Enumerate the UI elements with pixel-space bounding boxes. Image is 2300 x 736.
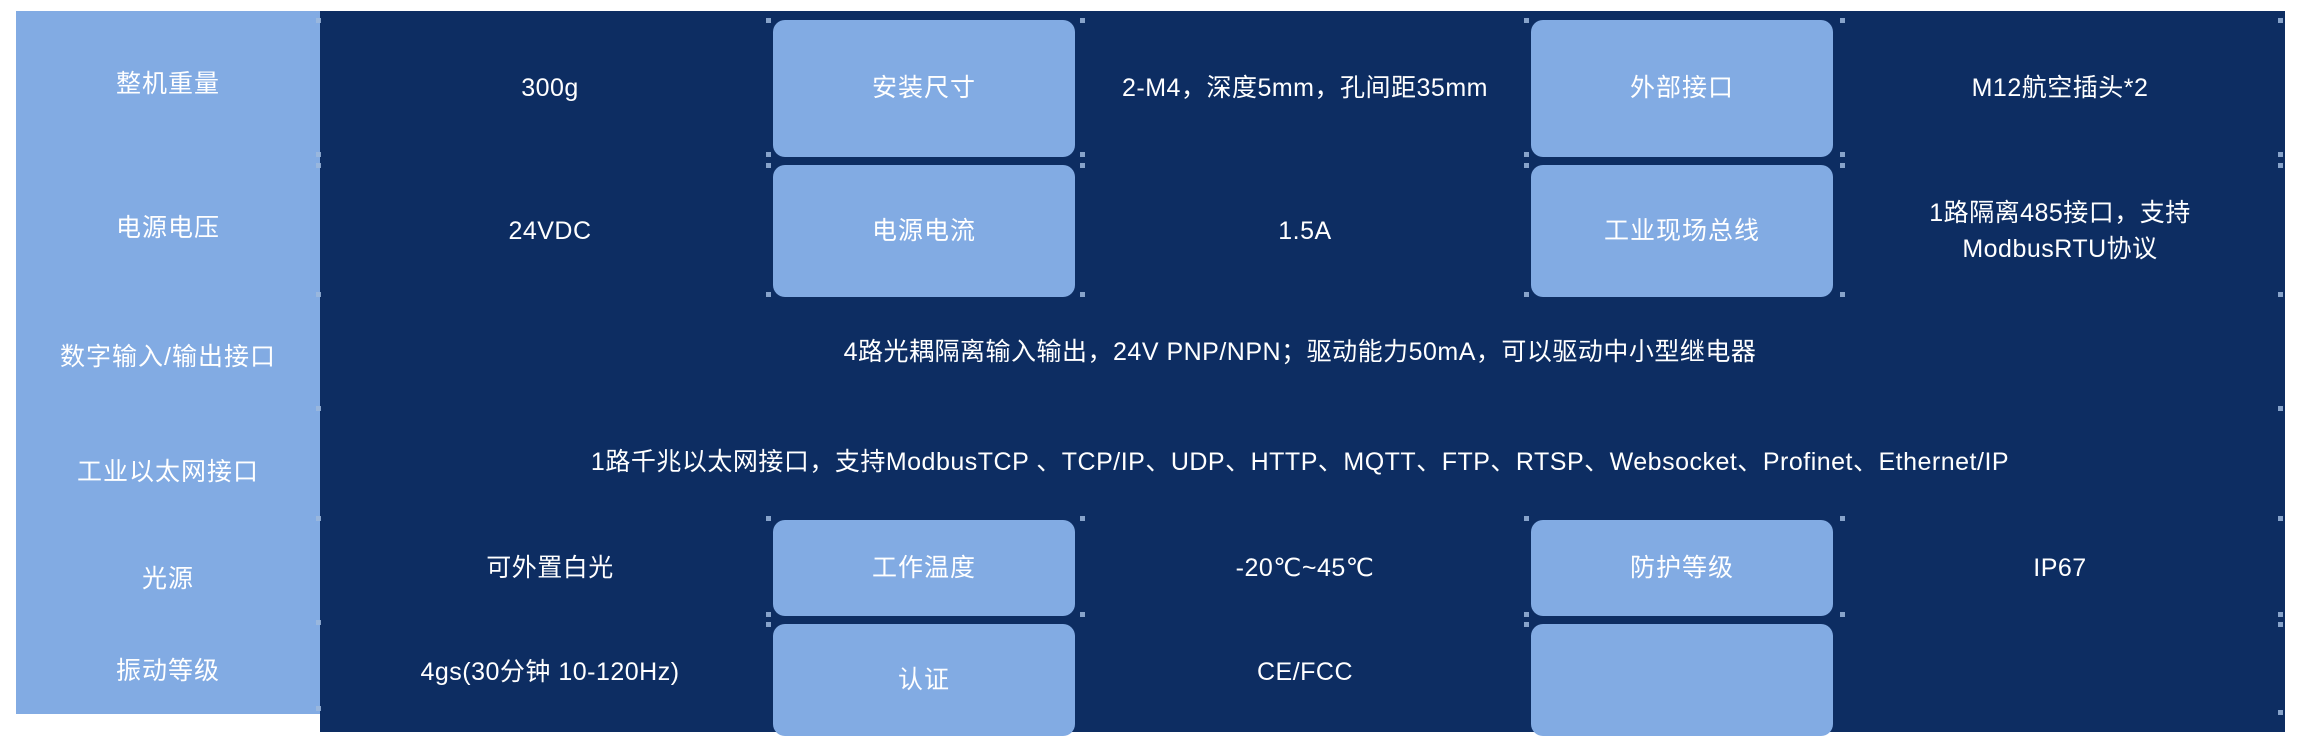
selection-handle-icon[interactable] [1840,152,1845,157]
selection-handle-icon[interactable] [2278,152,2283,157]
value-power-voltage: 24VDC [330,165,770,297]
selection-handle-icon[interactable] [766,292,771,297]
selection-handle-icon[interactable] [766,516,771,521]
selection-handle-icon[interactable] [2278,292,2283,297]
selection-handle-icon[interactable] [316,406,321,411]
selection-handle-icon[interactable] [1524,622,1529,627]
selection-handle-icon[interactable] [316,516,321,521]
selection-handle-icon[interactable] [1524,18,1529,23]
row-label-column: 整机重量 电源电压 数字输入/输出接口 工业以太网接口 光源 振动等级 [16,11,320,714]
selection-handle-icon[interactable] [766,152,771,157]
selection-handle-icon[interactable] [1524,516,1529,521]
value-certification: CE/FCC [1090,624,1520,720]
selection-handle-icon[interactable] [1080,18,1085,23]
value-light-source: 可外置白光 [330,520,770,616]
row-label-power-voltage: 电源电压 [16,157,320,299]
chip-certification[interactable]: 认证 [773,624,1075,736]
value-digital-io: 4路光耦隔离输入输出，24V PNP/NPN；驱动能力50mA，可以驱动中小型继… [330,300,2270,404]
row-label-industrial-ethernet: 工业以太网接口 [16,415,320,529]
value-protection-rating: IP67 [1850,520,2270,616]
selection-handle-icon[interactable] [2278,612,2283,617]
selection-handle-icon[interactable] [2278,516,2283,521]
value-weight: 300g [330,20,770,157]
chip-external-interface[interactable]: 外部接口 [1531,20,1833,157]
value-operating-temperature: -20℃~45℃ [1090,520,1520,616]
selection-handle-icon[interactable] [1524,152,1529,157]
value-mounting-dimensions: 2-M4，深度5mm，孔间距35mm [1090,20,1520,157]
chip-mounting-dimensions[interactable]: 安装尺寸 [773,20,1075,157]
selection-handle-icon[interactable] [766,612,771,617]
selection-handle-icon[interactable] [1524,163,1529,168]
selection-handle-icon[interactable] [2278,163,2283,168]
chip-protection-rating[interactable]: 防护等级 [1531,520,1833,616]
value-row6-empty [1850,624,2270,720]
selection-handle-icon[interactable] [316,152,321,157]
chip-operating-temperature[interactable]: 工作温度 [773,520,1075,616]
chip-row6-empty[interactable] [1531,624,1833,736]
selection-handle-icon[interactable] [1080,163,1085,168]
specification-table-slide: 整机重量 电源电压 数字输入/输出接口 工业以太网接口 光源 振动等级 300g… [0,0,2300,732]
selection-handle-icon[interactable] [1840,516,1845,521]
selection-handle-icon[interactable] [316,706,321,711]
selection-handle-icon[interactable] [766,163,771,168]
selection-handle-icon[interactable] [316,620,321,625]
selection-handle-icon[interactable] [316,292,321,297]
value-external-interface: M12航空插头*2 [1850,20,2270,157]
selection-handle-icon[interactable] [1080,292,1085,297]
selection-handle-icon[interactable] [316,163,321,168]
row-label-weight: 整机重量 [16,11,320,157]
selection-handle-icon[interactable] [316,18,321,23]
selection-handle-icon[interactable] [766,622,771,627]
selection-handle-icon[interactable] [2278,18,2283,23]
selection-handle-icon[interactable] [1840,163,1845,168]
selection-handle-icon[interactable] [1080,612,1085,617]
selection-handle-icon[interactable] [2278,710,2283,715]
row-label-vibration-grade: 振动等级 [16,629,320,714]
selection-handle-icon[interactable] [1840,18,1845,23]
value-vibration-grade: 4gs(30分钟 10-120Hz) [330,624,770,720]
chip-power-current[interactable]: 电源电流 [773,165,1075,297]
value-power-current: 1.5A [1090,165,1520,297]
chip-industrial-fieldbus[interactable]: 工业现场总线 [1531,165,1833,297]
selection-handle-icon[interactable] [1080,152,1085,157]
row-label-light-source: 光源 [16,529,320,629]
selection-handle-icon[interactable] [1524,292,1529,297]
selection-handle-icon[interactable] [2278,622,2283,627]
row-label-digital-io: 数字输入/输出接口 [16,299,320,415]
selection-handle-icon[interactable] [1080,516,1085,521]
value-industrial-ethernet: 1路千兆以太网接口，支持ModbusTCP 、TCP/IP、UDP、HTTP、M… [330,410,2270,514]
selection-handle-icon[interactable] [2278,406,2283,411]
value-industrial-fieldbus: 1路隔离485接口，支持ModbusRTU协议 [1850,165,2270,297]
selection-handle-icon[interactable] [766,18,771,23]
selection-handle-icon[interactable] [1840,612,1845,617]
selection-handle-icon[interactable] [1840,292,1845,297]
selection-handle-icon[interactable] [1524,612,1529,617]
